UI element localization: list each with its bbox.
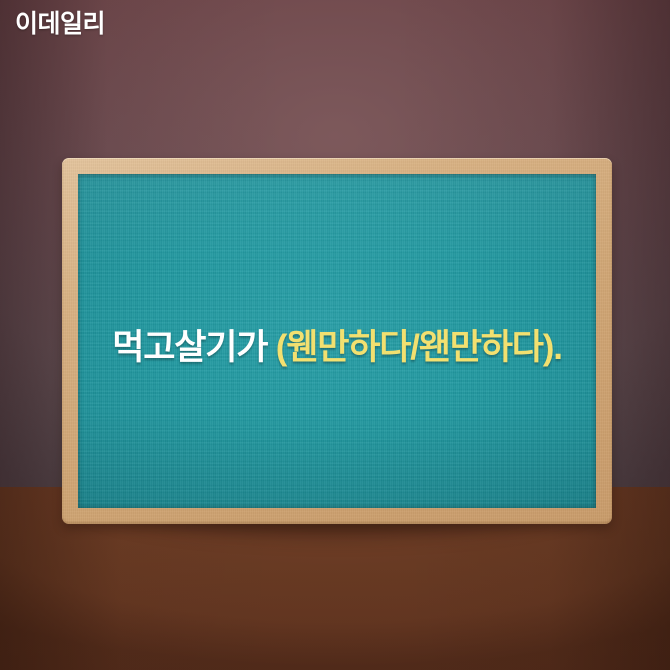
quiz-text: 먹고살기가 (웬만하다/왠만하다). (112, 326, 562, 370)
edaily-logo: 이데일리 (15, 9, 105, 39)
chalkboard-surface: 먹고살기가 (웬만하다/왠만하다). (78, 174, 596, 508)
quiz-period: . (553, 328, 562, 367)
chalkboard-frame: 먹고살기가 (웬만하다/왠만하다). (62, 158, 612, 524)
quiz-choices-text: (웬만하다/왠만하다) (276, 328, 553, 367)
quiz-stem-text: 먹고살기가 (112, 328, 276, 367)
infographic-scene: 이데일리 먹고살기가 (웬만하다/왠만하다). (0, 0, 670, 670)
